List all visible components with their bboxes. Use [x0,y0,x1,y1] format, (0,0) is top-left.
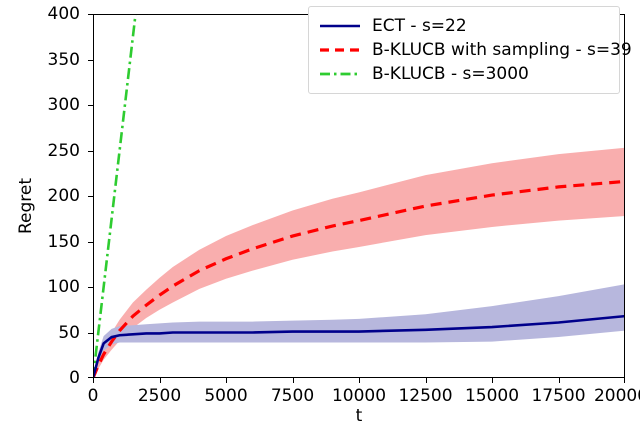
legend-swatch-bklucb-sampling-line [318,41,362,59]
x-tick-label-12500: 12500 [398,386,452,406]
x-tick-label-20000: 20000 [594,386,640,406]
y-tick-mark [88,196,93,197]
x-tick-mark [226,378,227,383]
y-tick-mark [88,287,93,288]
x-tick-mark [160,378,161,383]
legend-entry-bklucb[interactable]: B-KLUCB - s=3000 [318,62,610,86]
legend-entry-bklucb-sampling[interactable]: B-KLUCB with sampling - s=39 [318,38,610,62]
x-tick-label-5000: 5000 [204,386,247,406]
x-tick-label-10000: 10000 [332,386,386,406]
x-tick-label-2500: 2500 [138,386,181,406]
y-tick-mark [88,333,93,334]
x-tick-label-0: 0 [88,386,99,406]
y-tick-label-400: 400 [22,4,80,24]
x-tick-mark [93,378,94,383]
legend-label-bklucb: B-KLUCB - s=3000 [372,66,529,83]
x-tick-label-17500: 17500 [531,386,585,406]
y-tick-label-100: 100 [22,277,80,297]
x-tick-mark [559,378,560,383]
y-tick-label-200: 200 [22,186,80,206]
regret-chart-figure: Regret 400 350 300 250 200 150 100 50 0 … [0,0,640,424]
legend-label-ect: ECT - s=22 [372,18,467,35]
x-tick-mark [359,378,360,383]
y-tick-label-150: 150 [22,232,80,252]
y-tick-mark [88,151,93,152]
y-tick-label-250: 250 [22,141,80,161]
legend-label-bklucb-sampling: B-KLUCB with sampling - s=39 [372,42,632,59]
y-tick-label-0: 0 [22,368,80,388]
x-axis-title: t [356,406,363,426]
y-tick-label-350: 350 [22,50,80,70]
y-tick-mark [88,377,93,378]
y-tick-mark [88,242,93,243]
x-tick-mark [426,378,427,383]
legend-swatch-bklucb-line [318,65,362,83]
legend-entry-ect[interactable]: ECT - s=22 [318,14,610,38]
y-tick-label-50: 50 [22,323,80,343]
y-tick-mark [88,14,93,15]
legend-swatch-ect-line [318,17,362,35]
y-tick-label-300: 300 [22,95,80,115]
chart-legend[interactable]: ECT - s=22 B-KLUCB with sampling - s=39 … [308,6,620,94]
x-tick-mark [293,378,294,383]
x-tick-label-7500: 7500 [271,386,314,406]
x-tick-label-15000: 15000 [465,386,519,406]
y-tick-mark [88,60,93,61]
x-tick-mark [624,378,625,383]
x-tick-mark [492,378,493,383]
y-tick-mark [88,105,93,106]
